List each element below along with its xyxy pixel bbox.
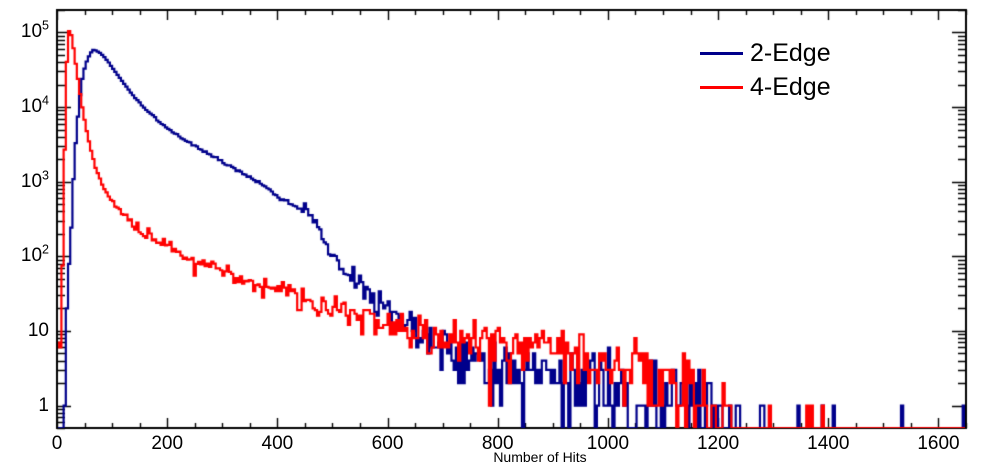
chart-root: 110102103104105 020040060080010001200140… <box>0 0 996 472</box>
histogram-canvas <box>0 0 996 472</box>
